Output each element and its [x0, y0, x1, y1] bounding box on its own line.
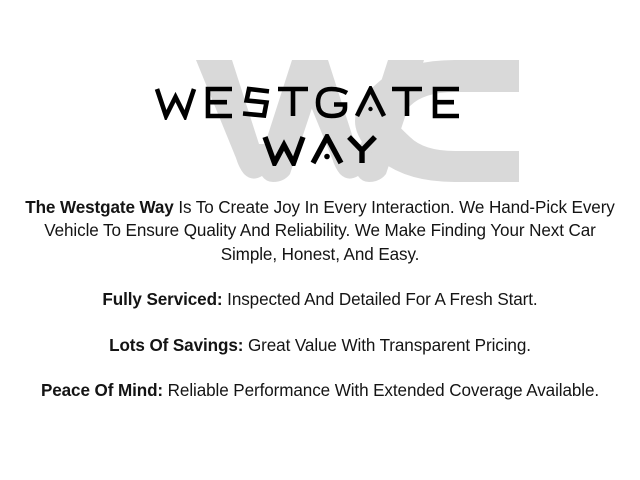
brand-subword: [0, 134, 640, 166]
brand-wordmark: [0, 86, 640, 120]
feature-peace-of-mind-lead: Peace Of Mind:: [41, 381, 163, 400]
feature-fully-serviced-lead: Fully Serviced:: [102, 290, 222, 309]
intro-lead: The Westgate Way: [25, 198, 173, 217]
feature-lots-of-savings-rest: Great Value With Transparent Pricing.: [243, 336, 531, 355]
brand-block: [0, 48, 640, 183]
feature-fully-serviced: Fully Serviced: Inspected And Detailed F…: [14, 288, 626, 311]
copy-block: The Westgate Way Is To Create Joy In Eve…: [0, 196, 640, 402]
feature-lots-of-savings: Lots Of Savings: Great Value With Transp…: [14, 334, 626, 357]
intro-paragraph: The Westgate Way Is To Create Joy In Eve…: [14, 196, 626, 266]
brand-subword-glyphs: [261, 134, 379, 166]
brand-lockup: [0, 48, 640, 183]
feature-peace-of-mind: Peace Of Mind: Reliable Performance With…: [14, 379, 626, 402]
feature-lots-of-savings-lead: Lots Of Savings:: [109, 336, 243, 355]
feature-peace-of-mind-rest: Reliable Performance With Extended Cover…: [163, 381, 599, 400]
feature-fully-serviced-rest: Inspected And Detailed For A Fresh Start…: [223, 290, 538, 309]
brand-wordmark-glyphs: [154, 86, 486, 120]
westgate-way-panel: The Westgate Way Is To Create Joy In Eve…: [0, 0, 640, 480]
